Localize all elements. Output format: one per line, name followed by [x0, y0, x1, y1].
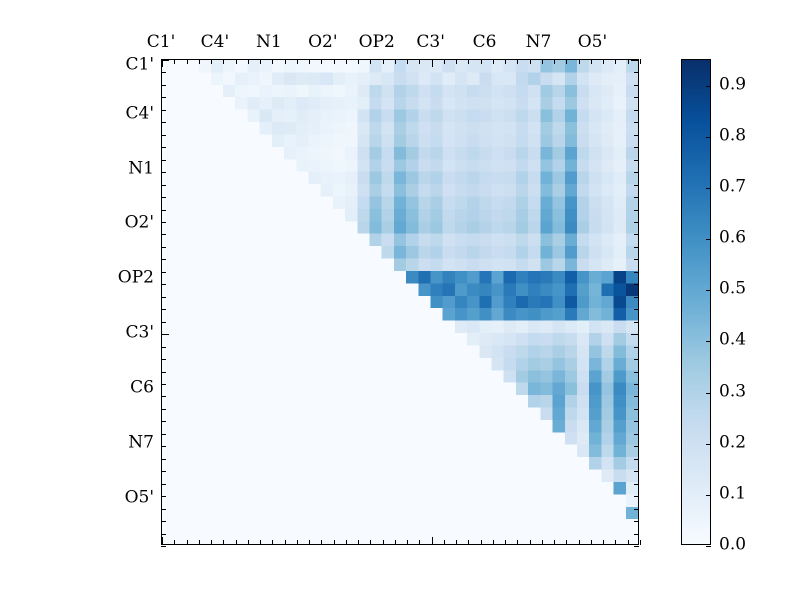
- y-tick-mark: [634, 359, 639, 360]
- x-tick-mark: [395, 540, 396, 545]
- x-tick-mark: [358, 59, 359, 64]
- y-tick-mark: [634, 247, 639, 248]
- x-tick-mark: [517, 59, 518, 64]
- x-tick-mark: [493, 59, 494, 64]
- y-tick-mark: [161, 185, 166, 186]
- y-tick-mark: [161, 546, 166, 547]
- x-tick-mark: [407, 540, 408, 545]
- y-tick-mark: [634, 197, 639, 198]
- x-tick-label: O5': [578, 34, 607, 51]
- x-tick-label: N1: [256, 34, 282, 51]
- x-tick-mark: [199, 540, 200, 545]
- colorbar-axes[interactable]: [681, 59, 711, 545]
- x-tick-mark: [591, 540, 592, 545]
- y-tick-mark: [161, 459, 166, 460]
- heatmap-image: [162, 60, 638, 544]
- y-tick-mark: [161, 521, 166, 522]
- y-tick-mark: [161, 347, 166, 348]
- y-tick-mark: [634, 72, 639, 73]
- x-tick-mark: [407, 59, 408, 64]
- y-tick-mark: [631, 60, 639, 61]
- y-tick-mark: [161, 85, 166, 86]
- x-tick-mark: [187, 540, 188, 545]
- colorbar-tick-mark: [706, 444, 711, 445]
- colorbar-tick-mark: [706, 495, 711, 496]
- y-tick-mark: [161, 272, 166, 273]
- y-tick-mark: [634, 234, 639, 235]
- colorbar-tick-mark: [706, 546, 711, 547]
- x-tick-label: C3': [416, 34, 445, 51]
- x-tick-mark: [566, 59, 567, 64]
- x-tick-mark: [615, 540, 616, 545]
- x-tick-mark: [419, 59, 420, 64]
- x-tick-mark: [530, 59, 531, 64]
- x-tick-label: OP2: [359, 34, 395, 51]
- x-tick-mark: [309, 59, 310, 64]
- y-tick-mark: [161, 110, 166, 111]
- x-tick-label: C6: [473, 34, 497, 51]
- x-tick-mark: [468, 59, 469, 64]
- y-tick-mark: [634, 484, 639, 485]
- x-tick-mark: [285, 59, 286, 64]
- x-tick-mark: [236, 540, 237, 545]
- y-tick-mark: [634, 272, 639, 273]
- x-tick-mark: [272, 59, 273, 64]
- y-tick-mark: [634, 372, 639, 373]
- colorbar-tick-label: 0.5: [719, 281, 746, 298]
- figure-canvas: C1'C4'N1O2'OP2C3'C6N7O5' C1'C4'N1O2'OP2C…: [0, 0, 800, 600]
- y-tick-mark: [634, 210, 639, 211]
- x-tick-mark: [603, 540, 604, 545]
- y-tick-label: C3': [126, 325, 155, 342]
- y-tick-mark: [634, 459, 639, 460]
- y-tick-mark: [634, 85, 639, 86]
- x-tick-mark: [211, 59, 212, 64]
- y-tick-mark: [161, 509, 166, 510]
- x-tick-mark: [321, 59, 322, 64]
- y-tick-mark: [634, 97, 639, 98]
- x-tick-mark: [334, 59, 335, 64]
- y-tick-mark: [634, 396, 639, 397]
- x-tick-mark: [444, 540, 445, 545]
- y-tick-mark: [634, 185, 639, 186]
- x-tick-mark: [248, 540, 249, 545]
- y-tick-label: O2': [125, 215, 154, 232]
- x-tick-mark: [285, 540, 286, 545]
- y-tick-mark: [161, 534, 166, 535]
- x-tick-mark: [432, 59, 433, 67]
- y-tick-mark: [161, 409, 166, 410]
- y-tick-mark: [161, 471, 166, 472]
- colorbar-gradient: [682, 60, 710, 544]
- y-tick-mark: [634, 421, 639, 422]
- x-tick-mark: [517, 540, 518, 545]
- x-tick-mark: [542, 540, 543, 545]
- y-tick-mark: [634, 297, 639, 298]
- x-tick-label: O2': [308, 34, 337, 51]
- x-tick-mark: [628, 59, 629, 64]
- y-tick-label: OP2: [118, 270, 154, 287]
- colorbar-tick-mark: [706, 239, 711, 240]
- y-tick-mark: [631, 334, 639, 335]
- y-tick-mark: [161, 396, 166, 397]
- y-tick-mark: [161, 284, 166, 285]
- y-tick-mark: [161, 197, 166, 198]
- y-tick-mark: [161, 334, 169, 335]
- y-tick-mark: [161, 97, 166, 98]
- x-tick-mark: [468, 540, 469, 545]
- x-tick-mark: [456, 59, 457, 64]
- y-tick-mark: [161, 434, 166, 435]
- y-tick-mark: [634, 160, 639, 161]
- colorbar-tick-label: 0.3: [719, 383, 746, 400]
- colorbar-tick-label: 0.2: [719, 434, 746, 451]
- x-tick-mark: [370, 59, 371, 64]
- x-tick-mark: [199, 59, 200, 64]
- y-tick-mark: [161, 147, 166, 148]
- x-tick-mark: [162, 537, 163, 545]
- x-tick-mark: [530, 540, 531, 545]
- x-tick-mark: [554, 540, 555, 545]
- y-tick-mark: [634, 446, 639, 447]
- x-tick-mark: [346, 540, 347, 545]
- y-tick-mark: [634, 284, 639, 285]
- x-tick-mark: [370, 540, 371, 545]
- x-tick-mark: [615, 59, 616, 64]
- x-tick-mark: [505, 540, 506, 545]
- y-tick-mark: [161, 496, 166, 497]
- y-tick-mark: [634, 534, 639, 535]
- x-tick-mark: [174, 540, 175, 545]
- y-tick-mark: [634, 172, 639, 173]
- colorbar-tick-label: 0.9: [719, 76, 746, 93]
- y-tick-mark: [634, 122, 639, 123]
- x-tick-mark: [505, 59, 506, 64]
- colorbar-tick-mark: [706, 290, 711, 291]
- y-tick-mark: [634, 347, 639, 348]
- x-tick-mark: [456, 540, 457, 545]
- y-tick-mark: [161, 259, 166, 260]
- x-tick-mark: [603, 59, 604, 64]
- x-tick-mark: [383, 59, 384, 64]
- x-tick-mark: [444, 59, 445, 64]
- x-tick-mark: [248, 59, 249, 64]
- x-tick-mark: [419, 540, 420, 545]
- y-tick-mark: [634, 409, 639, 410]
- y-tick-label: C6: [130, 379, 154, 396]
- x-tick-mark: [223, 59, 224, 64]
- x-tick-mark: [358, 540, 359, 545]
- y-tick-mark: [161, 135, 166, 136]
- y-tick-mark: [634, 135, 639, 136]
- y-tick-mark: [634, 322, 639, 323]
- y-tick-mark: [161, 322, 166, 323]
- x-tick-mark: [554, 59, 555, 64]
- x-tick-mark: [493, 540, 494, 545]
- x-tick-mark: [309, 540, 310, 545]
- y-tick-mark: [161, 297, 166, 298]
- y-tick-label: O5': [125, 489, 154, 506]
- x-tick-mark: [566, 540, 567, 545]
- y-tick-mark: [634, 546, 639, 547]
- y-tick-mark: [161, 421, 166, 422]
- x-tick-mark: [628, 540, 629, 545]
- x-tick-mark: [260, 540, 261, 545]
- y-tick-mark: [634, 434, 639, 435]
- y-tick-mark: [634, 384, 639, 385]
- x-tick-mark: [481, 540, 482, 545]
- y-tick-mark: [634, 471, 639, 472]
- y-tick-mark: [161, 372, 166, 373]
- colorbar-tick-mark: [706, 393, 711, 394]
- y-tick-mark: [634, 259, 639, 260]
- x-tick-mark: [432, 537, 433, 545]
- y-tick-label: N7: [128, 434, 154, 451]
- x-tick-mark: [640, 59, 641, 64]
- x-tick-mark: [346, 59, 347, 64]
- y-tick-mark: [161, 172, 166, 173]
- x-tick-mark: [272, 540, 273, 545]
- y-tick-mark: [161, 222, 166, 223]
- x-tick-label: C1': [147, 34, 176, 51]
- x-tick-mark: [297, 540, 298, 545]
- x-tick-mark: [334, 540, 335, 545]
- y-tick-mark: [161, 160, 166, 161]
- colorbar-tick-label: 0.1: [719, 485, 746, 502]
- y-tick-mark: [634, 509, 639, 510]
- y-tick-mark: [161, 446, 166, 447]
- colorbar-tick-label: 0.8: [719, 127, 746, 144]
- colorbar-tick-mark: [706, 341, 711, 342]
- colorbar-tick-label: 0.7: [719, 178, 746, 195]
- y-tick-mark: [161, 484, 166, 485]
- y-tick-mark: [634, 521, 639, 522]
- x-tick-mark: [395, 59, 396, 64]
- x-tick-mark: [579, 540, 580, 545]
- x-tick-mark: [260, 59, 261, 64]
- x-tick-mark: [591, 59, 592, 64]
- x-tick-mark: [223, 540, 224, 545]
- colorbar-tick-label: 0.0: [719, 537, 746, 554]
- y-tick-mark: [634, 309, 639, 310]
- colorbar-tick-mark: [706, 188, 711, 189]
- x-tick-mark: [211, 540, 212, 545]
- x-tick-mark: [383, 540, 384, 545]
- x-tick-mark: [481, 59, 482, 64]
- y-tick-mark: [161, 309, 166, 310]
- y-tick-label: N1: [128, 160, 154, 177]
- y-tick-label: C1': [126, 57, 155, 74]
- y-tick-mark: [161, 60, 169, 61]
- colorbar-tick-mark: [706, 86, 711, 87]
- y-tick-mark: [634, 496, 639, 497]
- x-tick-mark: [640, 540, 641, 545]
- y-tick-label: C4': [126, 105, 155, 122]
- y-tick-mark: [634, 222, 639, 223]
- y-tick-mark: [634, 110, 639, 111]
- x-tick-mark: [297, 59, 298, 64]
- x-tick-label: N7: [526, 34, 552, 51]
- x-tick-mark: [174, 59, 175, 64]
- x-tick-mark: [321, 540, 322, 545]
- y-tick-mark: [161, 247, 166, 248]
- x-tick-label: C4': [201, 34, 230, 51]
- y-tick-mark: [161, 234, 166, 235]
- colorbar-tick-label: 0.4: [719, 332, 746, 349]
- y-tick-mark: [161, 359, 166, 360]
- heatmap-axes[interactable]: [161, 59, 639, 545]
- y-tick-mark: [634, 147, 639, 148]
- x-tick-mark: [187, 59, 188, 64]
- x-tick-mark: [579, 59, 580, 64]
- colorbar-tick-mark: [706, 137, 711, 138]
- y-tick-mark: [161, 72, 166, 73]
- y-tick-mark: [161, 210, 166, 211]
- colorbar-tick-label: 0.6: [719, 230, 746, 247]
- y-tick-mark: [161, 122, 166, 123]
- y-tick-mark: [161, 384, 166, 385]
- x-tick-mark: [236, 59, 237, 64]
- x-tick-mark: [542, 59, 543, 64]
